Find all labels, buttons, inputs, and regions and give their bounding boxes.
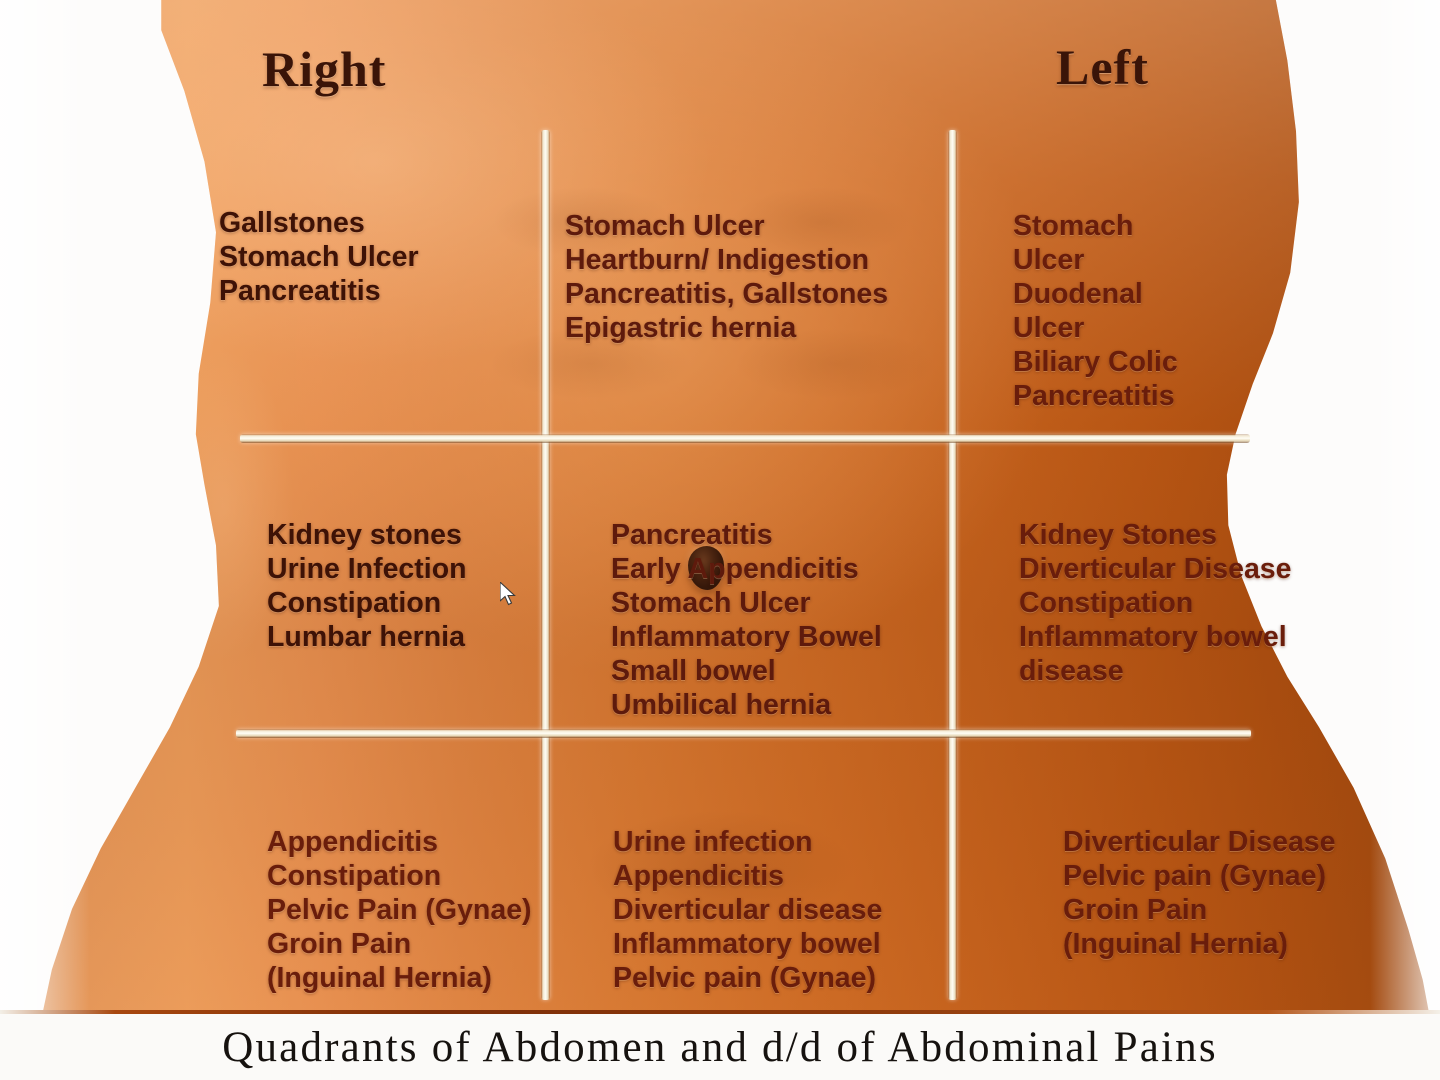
region-line: Urine Infection [267, 552, 467, 586]
region-line: Appendicitis [267, 825, 532, 859]
region-line: Groin Pain [267, 927, 532, 961]
region-line: Inflammatory bowel [613, 927, 882, 961]
region-line: Kidney Stones [1019, 518, 1292, 552]
region-right-lumbar: Kidney stonesUrine InfectionConstipation… [267, 518, 467, 654]
region-line: Pancreatitis [1013, 379, 1178, 413]
region-line: Biliary Colic [1013, 345, 1178, 379]
region-line: Lumbar hernia [267, 620, 467, 654]
region-line: Constipation [1019, 586, 1292, 620]
region-umbilical: PancreatitisEarly AppendicitisStomach Ul… [611, 518, 882, 722]
region-line: Heartburn/ Indigestion [565, 243, 888, 277]
label-left: Left [1056, 38, 1149, 96]
region-line: (Inguinal Hernia) [267, 961, 532, 995]
horizontal-grid-line-lower [236, 729, 1251, 738]
region-line: Stomach Ulcer [565, 209, 888, 243]
caption-text: Quadrants of Abdomen and d/d of Abdomina… [222, 1023, 1218, 1072]
region-line: Inflammatory bowel [1019, 620, 1292, 654]
region-line: Kidney stones [267, 518, 467, 552]
region-line: Stomach Ulcer [611, 586, 882, 620]
horizontal-grid-line-upper [240, 434, 1250, 443]
region-line: Stomach Ulcer [219, 240, 419, 274]
region-left-upper: StomachUlcerDuodenalUlcerBiliary ColicPa… [1013, 209, 1178, 413]
region-line: Umbilical hernia [611, 688, 882, 722]
vertical-grid-line-left [541, 130, 550, 1000]
region-line: Epigastric hernia [565, 311, 888, 345]
region-line: Diverticular disease [613, 893, 882, 927]
region-line: Gallstones [219, 206, 419, 240]
region-left-lower: Diverticular DiseasePelvic pain (Gynae)G… [1063, 825, 1336, 961]
abdomen-quadrants-figure: Right Left GallstonesStomach UlcerPancre… [0, 0, 1440, 1080]
region-line: (Inguinal Hernia) [1063, 927, 1336, 961]
region-left-lumbar: Kidney StonesDiverticular DiseaseConstip… [1019, 518, 1292, 688]
region-line: Constipation [267, 859, 532, 893]
region-line: Early Appendicitis [611, 552, 882, 586]
region-line: Pancreatitis [219, 274, 419, 308]
region-line: Pelvic pain (Gynae) [1063, 859, 1336, 893]
region-line: Appendicitis [613, 859, 882, 893]
region-line: Constipation [267, 586, 467, 620]
region-line: Inflammatory Bowel [611, 620, 882, 654]
region-line: Pancreatitis, Gallstones [565, 277, 888, 311]
region-line: Stomach [1013, 209, 1178, 243]
region-epigastric: Stomach UlcerHeartburn/ IndigestionPancr… [565, 209, 888, 345]
region-line: Ulcer [1013, 311, 1178, 345]
region-line: Groin Pain [1063, 893, 1336, 927]
region-line: Duodenal [1013, 277, 1178, 311]
region-line: Diverticular Disease [1019, 552, 1292, 586]
region-line: Pelvic Pain (Gynae) [267, 893, 532, 927]
left-edge-fade [0, 0, 90, 1010]
label-right: Right [262, 40, 386, 98]
region-right-lower: AppendicitisConstipationPelvic Pain (Gyn… [267, 825, 532, 995]
region-suprapubic: Urine infectionAppendicitisDiverticular … [613, 825, 882, 995]
region-line: Small bowel [611, 654, 882, 688]
region-line: Pelvic pain (Gynae) [613, 961, 882, 995]
region-line: Pancreatitis [611, 518, 882, 552]
vertical-grid-line-right [948, 130, 957, 1000]
region-right-upper: GallstonesStomach UlcerPancreatitis [219, 206, 419, 308]
region-line: Ulcer [1013, 243, 1178, 277]
region-line: Diverticular Disease [1063, 825, 1336, 859]
region-line: disease [1019, 654, 1292, 688]
torso-image: Right Left GallstonesStomach UlcerPancre… [0, 0, 1440, 1010]
caption-bar: Quadrants of Abdomen and d/d of Abdomina… [0, 1010, 1440, 1080]
region-line: Urine infection [613, 825, 882, 859]
